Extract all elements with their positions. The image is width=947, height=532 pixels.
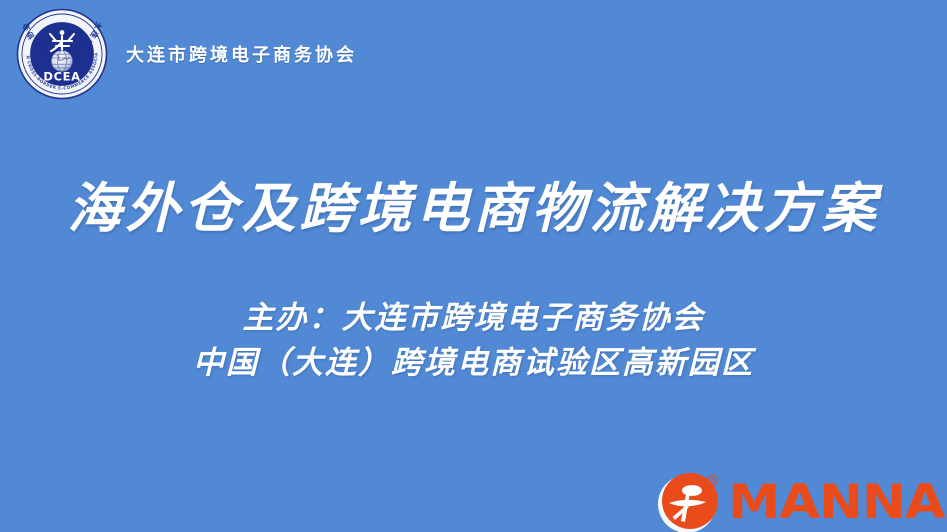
svg-text:R: R: [711, 479, 716, 485]
svg-text:DCEA: DCEA: [43, 70, 80, 84]
subtitle-line-organizer: 主办：大连市跨境电子商务协会: [0, 296, 947, 341]
slide-header: 大连市跨境电子商务协会 DALIAN CROSS-BORDER E-COMMER…: [16, 8, 357, 100]
association-name: 大连市跨境电子商务协会: [126, 41, 357, 67]
manna-circle-mark-icon: R: [656, 470, 722, 532]
subtitle-line-zone: 中国（大连）跨境电商试验区高新园区: [0, 341, 947, 386]
slide-title: 海外仓及跨境电商物流解决方案: [0, 178, 947, 241]
dcea-association-seal-icon: 大连市跨境电子商务协会 DALIAN CROSS-BORDER E-COMMER…: [16, 8, 108, 100]
manna-wordmark-text: MANNA: [728, 475, 944, 530]
manna-wordmark: MANNA ®: [728, 481, 947, 524]
manna-sponsor-logo: R MANNA ®: [656, 466, 947, 532]
title-block: 海外仓及跨境电商物流解决方案: [0, 178, 947, 241]
subtitle-block: 主办：大连市跨境电子商务协会 中国（大连）跨境电商试验区高新园区: [0, 296, 947, 386]
title-slide: 大连市跨境电子商务协会 DALIAN CROSS-BORDER E-COMMER…: [0, 0, 947, 532]
